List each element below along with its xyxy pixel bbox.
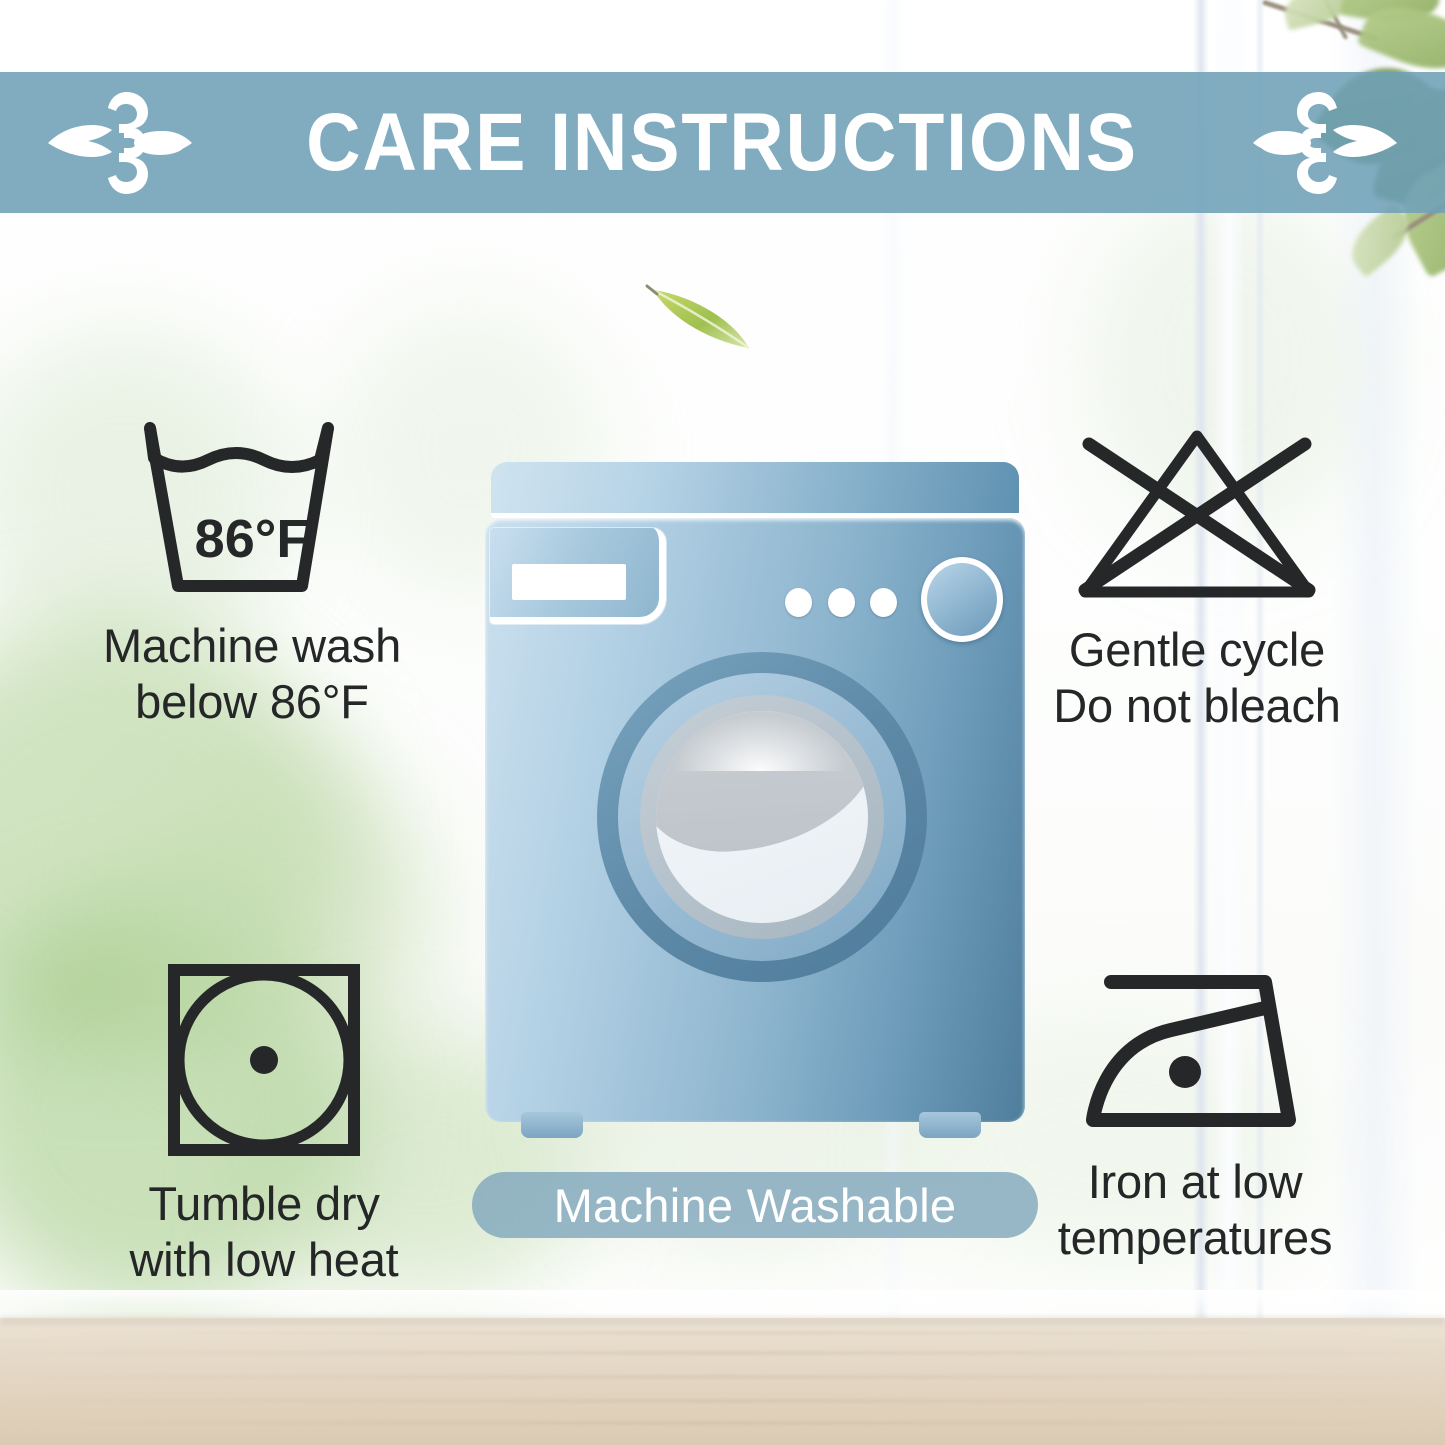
page-title: CARE INSTRUCTIONS — [307, 102, 1139, 184]
care-symbol-do-not-bleach: Gentle cycle Do not bleach — [962, 420, 1432, 734]
fleur-de-lis-icon — [42, 84, 202, 202]
fleur-de-lis-icon — [1243, 84, 1403, 202]
table-edge — [0, 1318, 1445, 1328]
indicator-light — [785, 588, 812, 617]
washer-door-glass — [656, 711, 868, 923]
indicator-light — [828, 588, 855, 617]
triangle-crossed-icon — [1067, 420, 1327, 606]
wash-temperature-label: 86°F — [132, 508, 372, 570]
leaf-icon — [645, 278, 765, 356]
care-symbol-caption: Gentle cycle Do not bleach — [962, 622, 1432, 734]
machine-washable-badge: Machine Washable — [472, 1172, 1038, 1238]
detergent-drawer — [490, 528, 666, 624]
washer-door — [597, 652, 927, 982]
washer-door-inner-ring — [640, 695, 884, 939]
washing-machine-illustration — [485, 462, 1025, 1122]
detergent-drawer-slot — [512, 564, 626, 600]
washer-foot — [919, 1112, 981, 1138]
program-knob — [921, 557, 1003, 642]
washer-door-ring — [618, 673, 906, 961]
care-symbol-machine-wash: 86°F Machine wash below 86°F — [22, 420, 482, 730]
care-symbol-caption: Machine wash below 86°F — [22, 618, 482, 730]
care-symbol-tumble-dry: Tumble dry with low heat — [44, 960, 484, 1288]
washer-top-panel — [491, 462, 1019, 518]
care-symbol-caption: Tumble dry with low heat — [44, 1176, 484, 1288]
header-banner: CARE INSTRUCTIONS — [0, 72, 1445, 213]
indicator-light — [870, 588, 897, 617]
washer-foot — [521, 1112, 583, 1138]
tumble-dry-low-icon — [164, 960, 364, 1160]
badge-label: Machine Washable — [554, 1182, 957, 1229]
wooden-table-surface — [0, 1318, 1445, 1445]
glass-highlight — [672, 715, 848, 771]
iron-one-dot-icon — [1075, 960, 1315, 1138]
